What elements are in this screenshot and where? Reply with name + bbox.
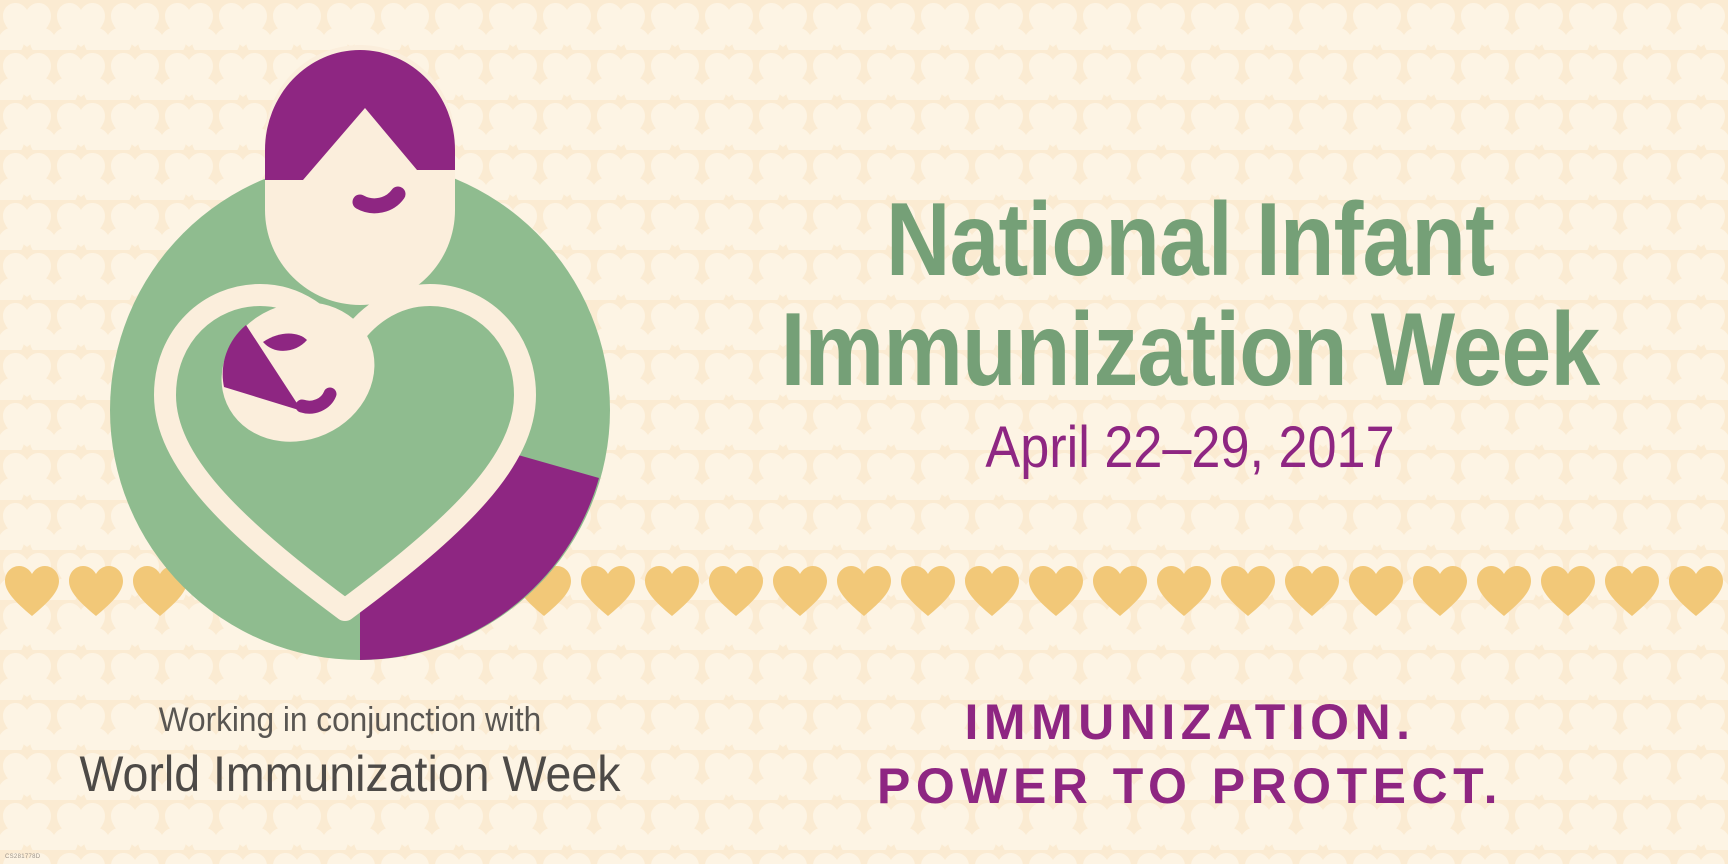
gold-heart	[837, 566, 891, 616]
mother-and-baby-heart-icon	[60, 20, 680, 660]
partner-event-name: World Immunization Week	[62, 743, 639, 806]
event-date: April 22–29, 2017	[749, 413, 1631, 483]
gold-heart	[1413, 566, 1467, 616]
gold-heart	[1029, 566, 1083, 616]
gold-heart	[773, 566, 827, 616]
gold-heart	[1541, 566, 1595, 616]
gold-heart	[709, 566, 763, 616]
tagline-line-2: POWER TO PROTECT.	[700, 754, 1680, 818]
gold-heart	[1605, 566, 1659, 616]
headline-block: National Infant Immunization Week April …	[700, 185, 1680, 483]
gold-heart	[1477, 566, 1531, 616]
publication-code: CS281778D	[5, 854, 40, 860]
headline-line-2: Immunization Week	[769, 295, 1612, 405]
gold-heart	[965, 566, 1019, 616]
gold-heart	[1157, 566, 1211, 616]
partner-credit-block: Working in conjunction with World Immuni…	[40, 700, 660, 805]
headline-line-1: National Infant	[769, 185, 1612, 295]
gold-heart	[5, 566, 59, 616]
tagline-line-1: IMMUNIZATION.	[700, 690, 1680, 754]
gold-heart	[1285, 566, 1339, 616]
tagline-block: IMMUNIZATION. POWER TO PROTECT.	[700, 690, 1680, 818]
credit-intro-text: Working in conjunction with	[62, 700, 639, 741]
gold-heart	[1093, 566, 1147, 616]
gold-heart	[1349, 566, 1403, 616]
niiw-banner: National Infant Immunization Week April …	[0, 0, 1728, 864]
gold-heart	[1669, 566, 1723, 616]
gold-heart	[1221, 566, 1275, 616]
gold-heart	[901, 566, 955, 616]
